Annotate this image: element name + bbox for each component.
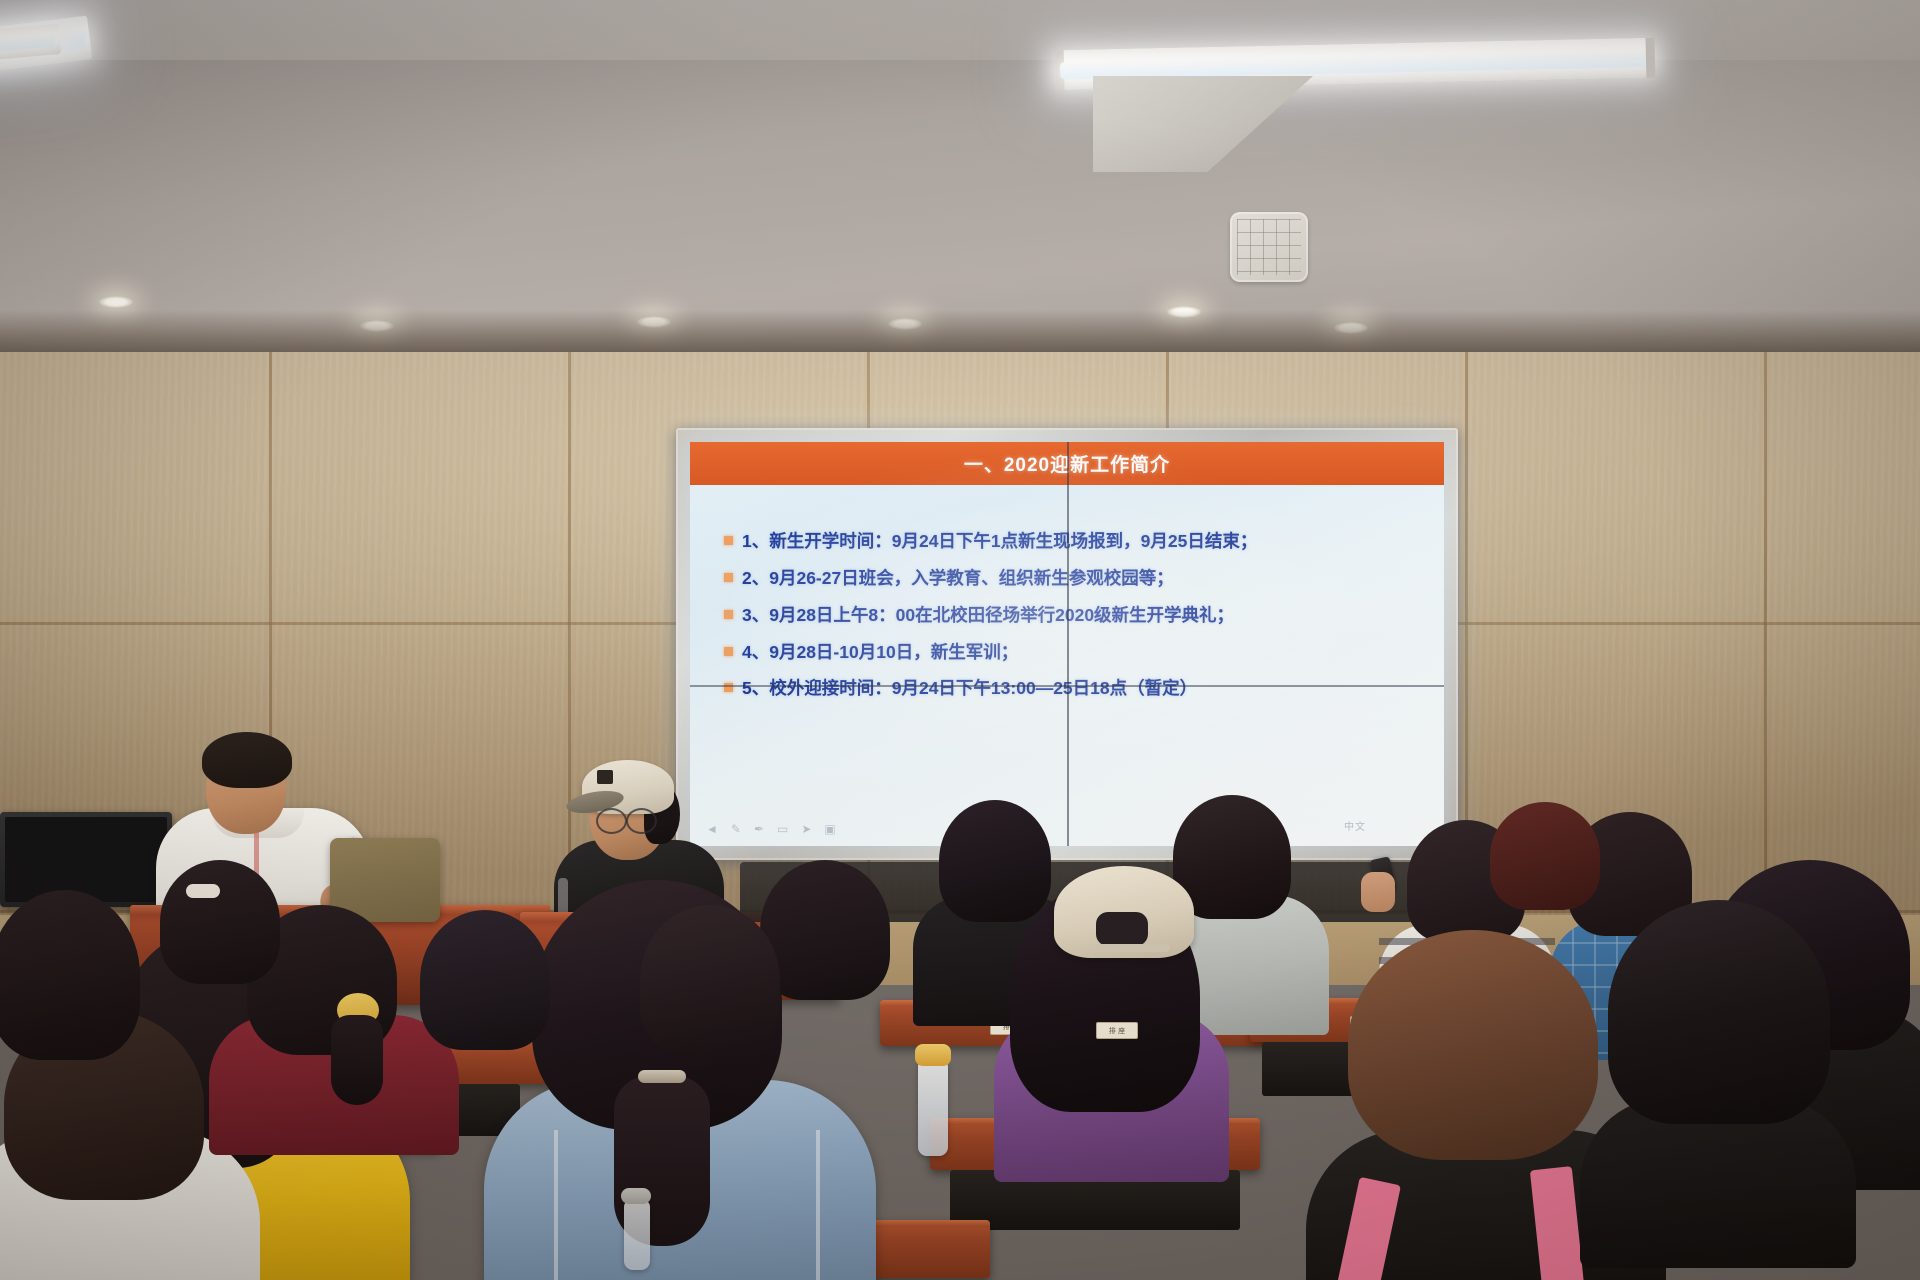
tube-endcap-right [1646,38,1656,78]
audience-hair [640,905,780,1055]
audience-small-ponytail-left [160,860,300,1020]
slide-bullet-text: 3、9月28日上午8：00在北校田径场举行2020级新生开学典礼； [742,603,1234,628]
slide-bullet-item: 5、校外迎接时间：9月24日下午13:00—25日18点（暂定） [724,676,1418,701]
audience-leftmost [0,890,150,1090]
water-bottle[interactable] [918,1060,948,1156]
audience-striped-shirt [1598,900,1828,1240]
cap-strap [1096,944,1170,952]
audience-cream-cap-purple [1010,862,1210,1162]
bottle-cap [621,1188,651,1204]
pointer-icon[interactable]: ➤ [801,822,811,836]
slide-bullet-text: 4、9月28日-10月10日，新生军训； [742,640,1018,665]
slide-bullet-text: 1、新生开学时间：9月24日下午1点新生现场报到，9月25日结束； [742,529,1257,554]
audience-hair [1608,900,1830,1124]
denim-seam-right [816,1130,820,1280]
audience-hair [1348,930,1598,1160]
audience-hair [160,860,280,984]
video-wall-frame: 一、2020迎新工作简介 1、新生开学时间：9月24日下午1点新生现场报到，9月… [676,428,1458,860]
ceiling-wall-junction [0,310,1920,356]
wall-speaker-icon [1230,212,1308,282]
cap-logo [597,770,613,784]
tube-glass [0,33,55,57]
panel-seam-horizontal [690,685,1444,687]
seat-number-tag: 排 座 [1096,1022,1138,1039]
slide-bullet-text: 2、9月26-27日班会，入学教育、组织新生参观校园等； [742,566,1174,591]
pen-icon[interactable]: ✎ [731,822,741,836]
slide-corner-watermark: 中文 [1344,818,1366,833]
slide-bullet-text: 5、校外迎接时间：9月24日下午13:00—25日18点（暂定） [742,676,1197,701]
menu-icon[interactable]: ▣ [824,822,835,836]
slide-bullet-item: 2、9月26-27日班会，入学教育、组织新生参观校园等； [724,566,1418,591]
denim-seam-left [554,1130,558,1280]
audience-hair [420,910,550,1050]
audience-far-back-c [420,910,560,1090]
presenter-hair [202,732,292,788]
presentation-toolbar[interactable]: ◄ ✎ ✒ ▭ ➤ ▣ [706,822,836,836]
hair-tie [186,884,220,898]
ponytail [331,1015,383,1105]
audience-hand [1361,872,1395,912]
audience-hair [1490,802,1600,910]
eyeglasses-icon [596,808,627,834]
bullet-square-icon [724,610,733,619]
bullet-square-icon [724,536,733,545]
eyeglasses-icon [626,808,657,834]
highlighter-icon[interactable]: ✒ [754,822,764,836]
audience-hair [0,890,140,1060]
bullet-square-icon [724,573,733,582]
back-arrow-icon[interactable]: ◄ [706,822,718,836]
eraser-icon[interactable]: ▭ [777,822,788,836]
tube-glass [1060,50,1650,79]
lecture-hall-photo: 一、2020迎新工作简介 1、新生开学时间：9月24日下午1点新生现场报到，9月… [0,0,1920,1280]
downlight-icon [99,296,133,308]
projection-screen[interactable]: 一、2020迎新工作简介 1、新生开学时间：9月24日下午1点新生现场报到，9月… [690,442,1444,846]
slide-bullet-item: 1、新生开学时间：9月24日下午1点新生现场报到，9月25日结束； [724,529,1418,554]
cap-back-opening [1096,912,1148,946]
audience-far-back-b [640,905,790,1095]
panel-seam-vertical [1067,442,1069,846]
slide-bullet-item: 4、9月28日-10月10日，新生军训； [724,640,1418,665]
water-bottle-front[interactable] [624,1200,650,1270]
audience-red-hair-far [1490,802,1600,942]
bottle-cap [915,1044,951,1066]
slide-bullet-item: 3、9月28日上午8：00在北校田径场举行2020级新生开学典礼； [724,603,1418,628]
bullet-square-icon [724,647,733,656]
